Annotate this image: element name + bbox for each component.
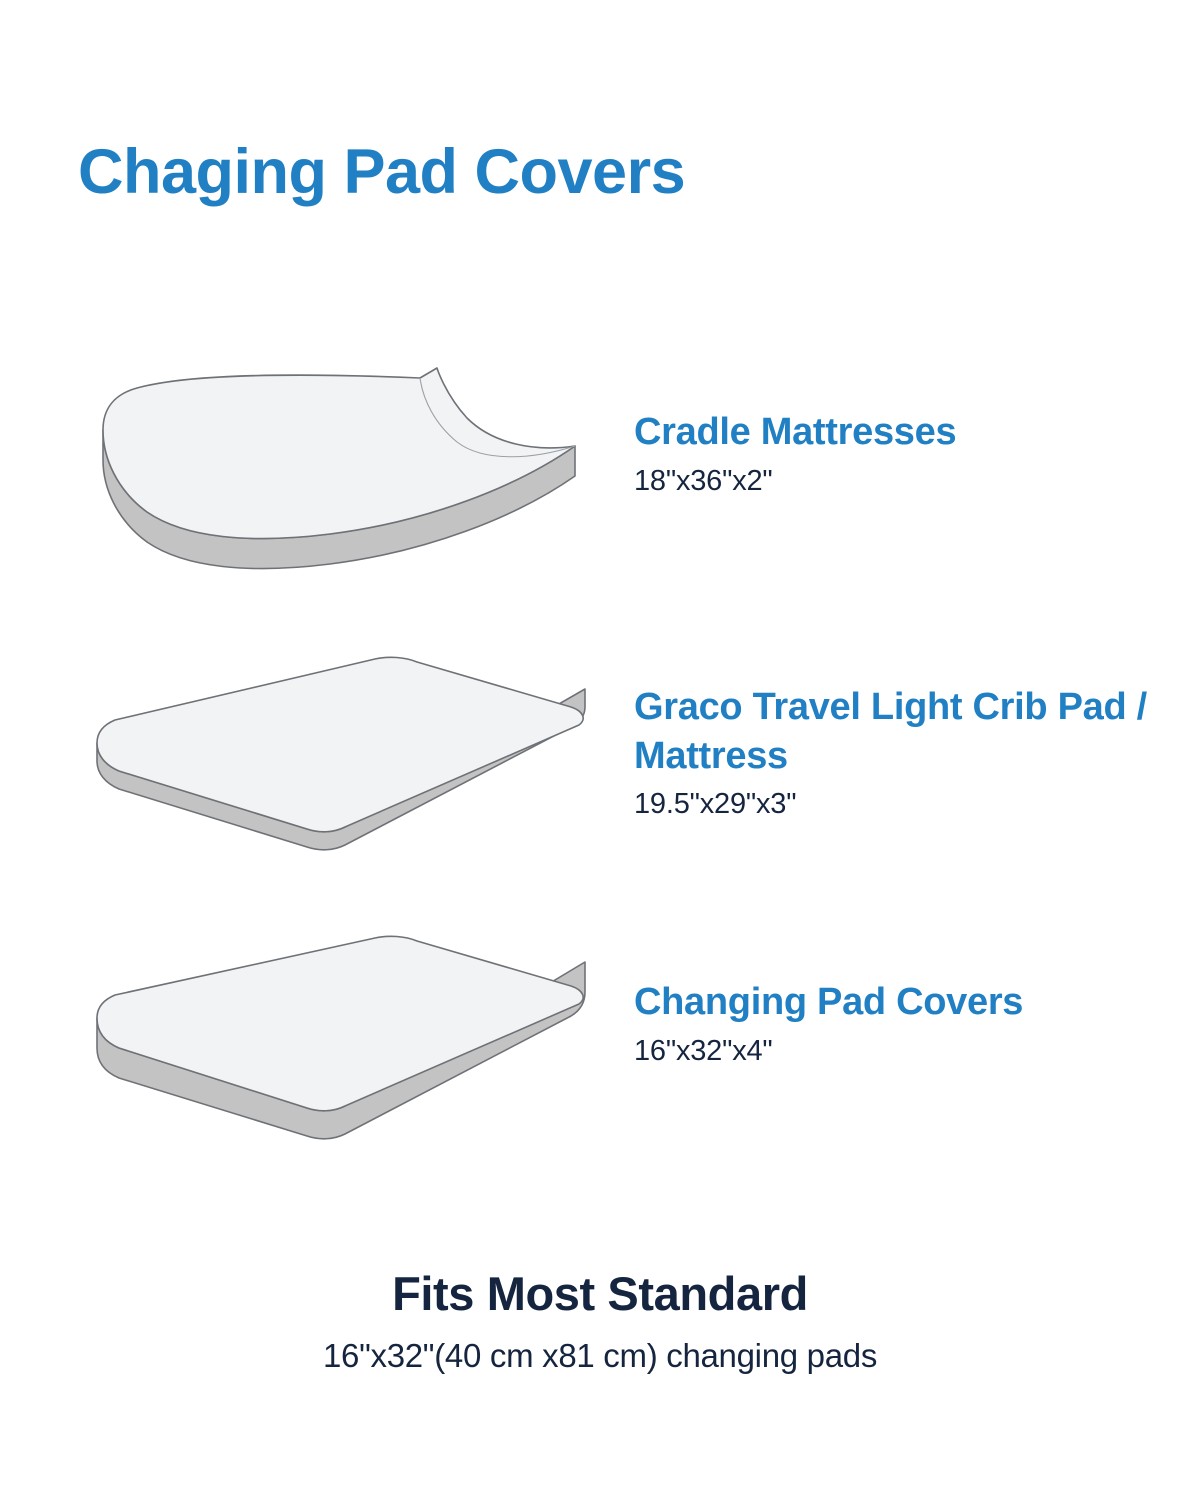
footer: Fits Most Standard 16"x32"(40 cm x81 cm)… xyxy=(0,1268,1200,1375)
product-name: Graco Travel Light Crib Pad / Mattress xyxy=(634,683,1174,780)
footer-heading: Fits Most Standard xyxy=(0,1268,1200,1320)
product-name: Changing Pad Covers xyxy=(634,978,1174,1027)
flat-mattress-thick-illustration xyxy=(75,930,605,1160)
product-name: Cradle Mattresses xyxy=(634,408,1174,457)
infographic-page: Chaging Pad Covers Cradle Mattresses 18"… xyxy=(0,0,1200,1500)
contoured-changing-pad-illustration xyxy=(75,360,605,590)
product-info: Cradle Mattresses 18"x36"x2" xyxy=(634,408,1174,500)
product-dimensions: 19.5"x29"x3" xyxy=(634,786,1174,824)
product-row: Cradle Mattresses 18"x36"x2" xyxy=(0,360,1200,610)
product-dimensions: 16"x32"x4" xyxy=(634,1033,1174,1071)
page-title: Chaging Pad Covers xyxy=(78,139,685,205)
product-info: Graco Travel Light Crib Pad / Mattress 1… xyxy=(634,683,1174,824)
product-row: Changing Pad Covers 16"x32"x4" xyxy=(0,930,1200,1180)
product-info: Changing Pad Covers 16"x32"x4" xyxy=(634,978,1174,1070)
product-row: Graco Travel Light Crib Pad / Mattress 1… xyxy=(0,645,1200,895)
product-dimensions: 18"x36"x2" xyxy=(634,463,1174,501)
flat-mattress-thin-illustration xyxy=(75,645,605,875)
footer-subtext: 16"x32"(40 cm x81 cm) changing pads xyxy=(0,1336,1200,1376)
